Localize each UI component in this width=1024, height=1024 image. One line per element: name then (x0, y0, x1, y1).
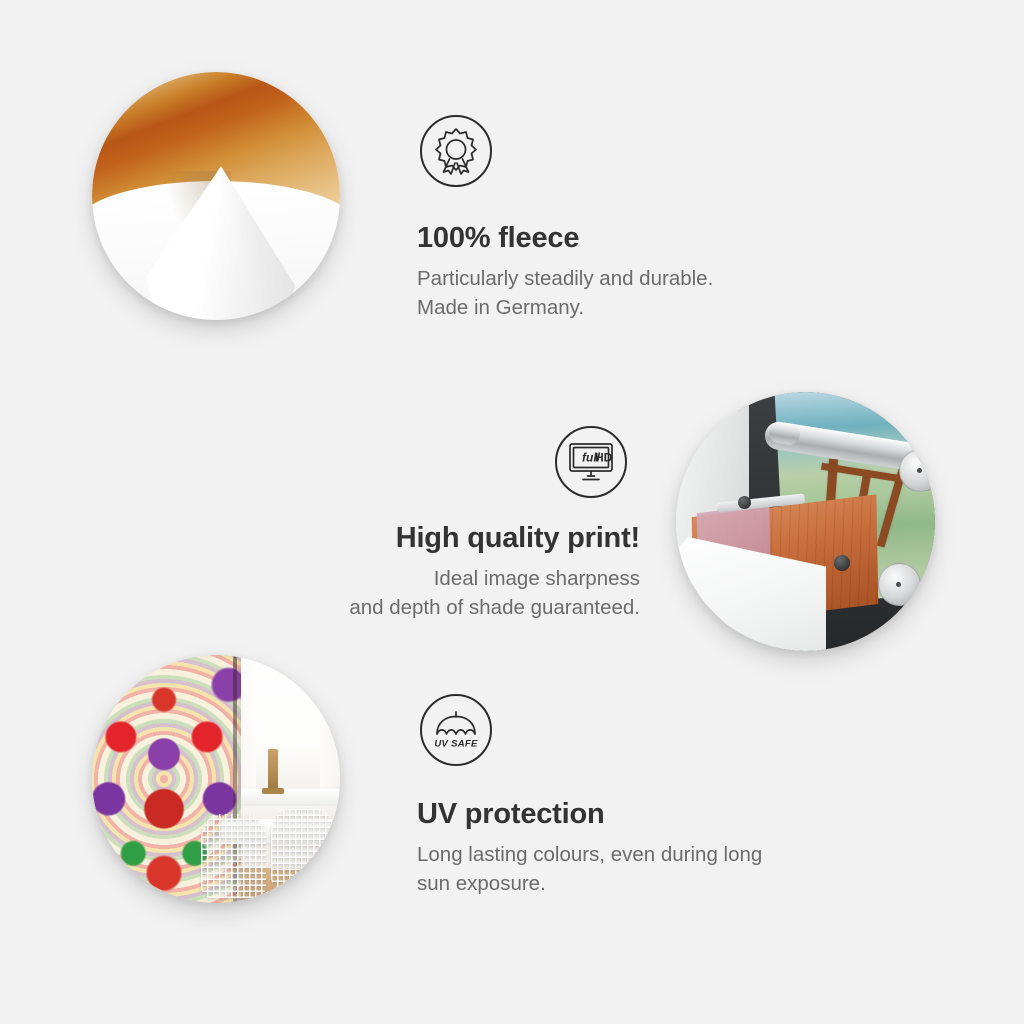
feature-body-line: Made in Germany. (417, 293, 887, 322)
feature-heading: UV protection (417, 798, 897, 831)
feature-body-line: Particularly steadily and durable. (417, 264, 887, 293)
large-format-printer-photo (676, 392, 935, 651)
candle-holder (268, 749, 278, 794)
feature-text-fleece: 100% fleece Particularly steadily and du… (417, 222, 887, 323)
infographic-canvas: 100% fleece Particularly steadily and du… (0, 0, 1024, 1024)
photo-clip (92, 72, 340, 320)
printer-knob (834, 555, 850, 571)
photo-clip (92, 655, 340, 903)
feature-body-line: Long lasting colours, even during long (417, 840, 897, 869)
feature-body-line: sun exposure. (417, 869, 897, 898)
window-sill (241, 789, 340, 806)
award-rosette-icon (420, 115, 492, 187)
uv-safe-icon-label: UV SAFE (434, 739, 478, 750)
wire-chair (271, 809, 335, 888)
wire-chair (201, 814, 265, 898)
printer-knob (738, 496, 751, 509)
feature-text-uv: UV protection Long lasting colours, even… (417, 798, 897, 899)
fullhd-monitor-icon: full HD (555, 426, 627, 498)
feature-body-line: and depth of shade guaranteed. (180, 593, 640, 622)
feature-text-print: High quality print! Ideal image sharpnes… (180, 522, 640, 623)
uv-safe-umbrella-icon: UV SAFE (420, 694, 492, 766)
room-window (256, 665, 320, 794)
fullhd-icon-label-hd: HD (595, 450, 613, 464)
feature-heading: 100% fleece (417, 222, 887, 255)
feature-heading: High quality print! (180, 522, 640, 555)
mandala-wallpaper-interior-photo (92, 655, 340, 903)
photo-clip (676, 392, 935, 651)
curled-wallpaper-roll-photo (92, 72, 340, 320)
feature-body-line: Ideal image sharpness (180, 564, 640, 593)
